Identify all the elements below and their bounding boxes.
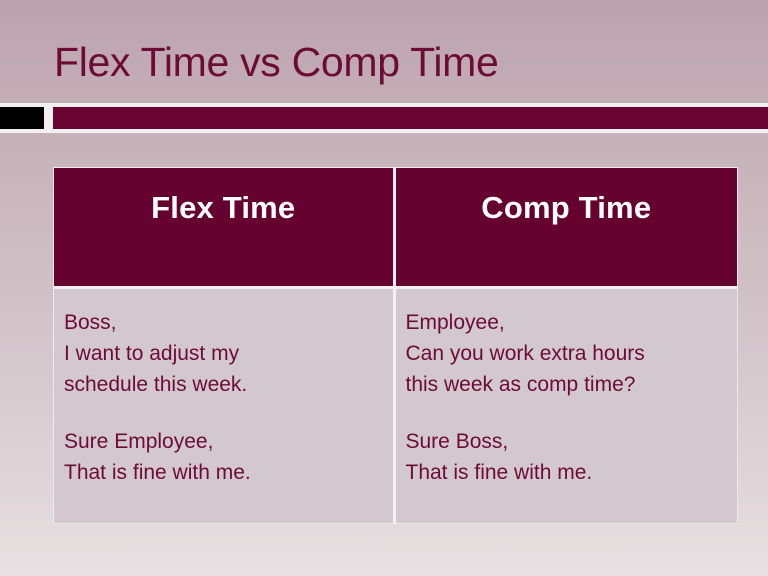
table-body-row: Boss, I want to adjust my schedule this … xyxy=(54,286,737,523)
accent-gap xyxy=(44,107,53,129)
page-title: Flex Time vs Comp Time xyxy=(54,36,744,88)
comparison-table: Flex Time Comp Time Boss, I want to adju… xyxy=(53,167,738,524)
slide: Flex Time vs Comp Time Flex Time Comp Ti… xyxy=(0,0,768,576)
table-cell-flex-time: Boss, I want to adjust my schedule this … xyxy=(54,286,396,523)
table-header-comp-time: Comp Time xyxy=(396,168,738,286)
accent-rule-bottom xyxy=(0,129,768,133)
table-header-row: Flex Time Comp Time xyxy=(54,168,737,286)
paragraph-spacer xyxy=(64,400,393,426)
accent-maroon-bar xyxy=(53,107,768,129)
accent-black-block xyxy=(0,107,44,129)
flex-time-request-text: Boss, I want to adjust my schedule this … xyxy=(64,307,393,400)
table-header-flex-time: Flex Time xyxy=(54,168,396,286)
paragraph-spacer xyxy=(406,400,738,426)
comp-time-request-text: Employee, Can you work extra hours this … xyxy=(406,307,738,400)
decorative-accent-band xyxy=(0,103,768,133)
flex-time-reply-text: Sure Employee, That is fine with me. xyxy=(64,426,393,488)
table-cell-comp-time: Employee, Can you work extra hours this … xyxy=(396,286,738,523)
comp-time-reply-text: Sure Boss, That is fine with me. xyxy=(406,426,738,488)
